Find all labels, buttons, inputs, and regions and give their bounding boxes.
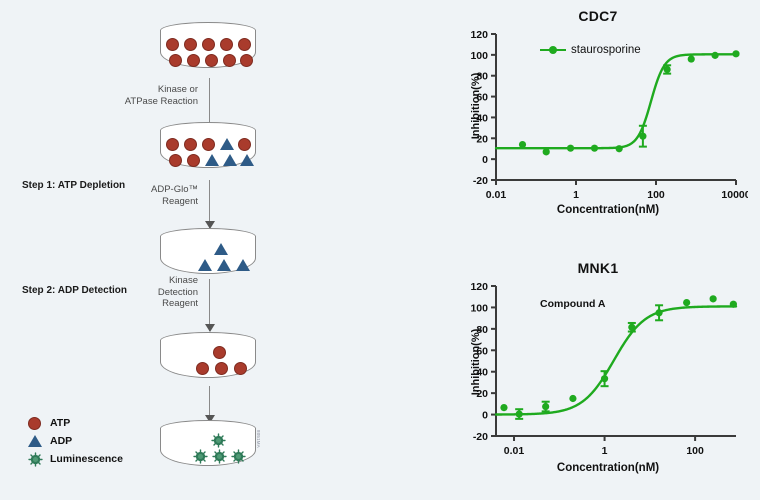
legend-item-adp: ADP [28,432,123,450]
figure-root: Kinase or ATPase Reaction [0,0,760,500]
atp-icon [240,54,253,67]
plot-area-cdc7: -200204060801001200.01110010000 [448,4,748,204]
legend-item-luminescence: Luminescence [28,450,123,468]
adp-icon [28,435,50,447]
svg-text:80: 80 [476,324,488,336]
atp-icon [205,54,218,67]
svg-text:60: 60 [476,345,488,357]
well-luminescence [156,418,261,472]
svg-text:10000: 10000 [721,189,748,201]
flow-arrow-3 [203,279,217,331]
atp-icon [184,138,197,151]
atp-icon [202,38,215,51]
luminescence-icon [231,449,246,464]
chart-cdc7: CDC7 Inhibition(%) Concentration(nM) sta… [448,4,748,234]
svg-text:120: 120 [470,29,488,41]
luminescence-icon [28,452,50,467]
svg-text:-20: -20 [473,431,488,443]
svg-text:20: 20 [476,133,488,145]
reaction-label-line: Reagent [112,298,198,310]
well-contents [160,134,256,168]
well-atp-only [156,20,261,74]
well-atp-regenerated [156,330,261,384]
svg-text:-20: -20 [473,175,488,187]
x-axis-label: Concentration(nM) [488,204,728,216]
svg-text:1: 1 [573,189,579,201]
luminescence-icon [212,449,227,464]
atp-icon [220,38,233,51]
svg-text:0.01: 0.01 [486,189,507,201]
legend-label: ATP [50,417,70,429]
adp-icon [217,259,231,271]
luminescence-icon [211,433,226,448]
reaction-label-line: ATPase Reaction [110,96,198,108]
watermark-text: 8051MA [256,430,261,448]
atp-icon [238,138,251,151]
reaction-label-line: Reagent [112,196,198,208]
plot-svg: -200204060801001200.01110010000 [448,4,748,204]
adp-glo-assay-schematic: Kinase or ATPase Reaction [0,0,440,500]
adp-icon [205,154,219,166]
well-adp-only [156,226,261,280]
legend-item-atp: ATP [28,414,123,432]
atp-icon [184,38,197,51]
reaction-label-line: Kinase or [110,84,198,96]
adp-icon [198,259,212,271]
svg-text:80: 80 [476,71,488,83]
atp-icon [238,38,251,51]
svg-text:20: 20 [476,388,488,400]
well-atp-adp-mix [156,120,261,174]
atp-icon [202,138,215,151]
atp-icon [169,54,182,67]
plot-svg: -200204060801001200.011100 [448,258,748,462]
svg-text:120: 120 [470,281,488,293]
well-contents [160,34,256,68]
step-label-atp-depletion: Step 1: ATP Depletion [22,180,125,191]
svg-text:40: 40 [476,112,488,124]
adp-icon [220,138,234,150]
adp-icon [240,154,254,166]
svg-text:0.01: 0.01 [504,445,525,457]
atp-icon [213,346,226,359]
svg-text:100: 100 [647,189,665,201]
atp-icon [169,154,182,167]
chart-mnk1: MNK1 Inhibition(%) Concentration(nM) Com… [448,258,748,496]
svg-text:0: 0 [482,410,488,422]
svg-text:100: 100 [686,445,704,457]
x-axis-label: Concentration(nM) [488,462,728,474]
svg-text:0: 0 [482,154,488,166]
reaction-label-kinase-atpase: Kinase or ATPase Reaction [110,84,198,107]
flow-arrow-4 [203,386,217,422]
legend-label: Luminescence [50,453,123,465]
luminescence-icon [193,449,208,464]
atp-icon [187,154,200,167]
svg-text:100: 100 [470,302,488,314]
adp-icon [223,154,237,166]
adp-icon [214,243,228,255]
atp-icon [215,362,228,375]
schematic-legend: ATP ADP [28,414,123,468]
well-contents [160,344,256,378]
svg-text:60: 60 [476,92,488,104]
atp-icon [187,54,200,67]
svg-text:40: 40 [476,367,488,379]
legend-label: ADP [50,435,72,447]
svg-text:1: 1 [602,445,608,457]
well-contents [160,432,256,466]
plot-area-mnk1: -200204060801001200.011100 [448,258,748,462]
atp-icon [223,54,236,67]
atp-icon [196,362,209,375]
atp-icon [234,362,247,375]
svg-text:100: 100 [470,50,488,62]
adp-icon [236,259,250,271]
atp-icon [28,417,50,430]
atp-icon [166,38,179,51]
well-contents [160,240,256,274]
step-label-adp-detection: Step 2: ADP Detection [22,285,127,296]
flow-arrow-2 [203,180,217,228]
atp-icon [166,138,179,151]
